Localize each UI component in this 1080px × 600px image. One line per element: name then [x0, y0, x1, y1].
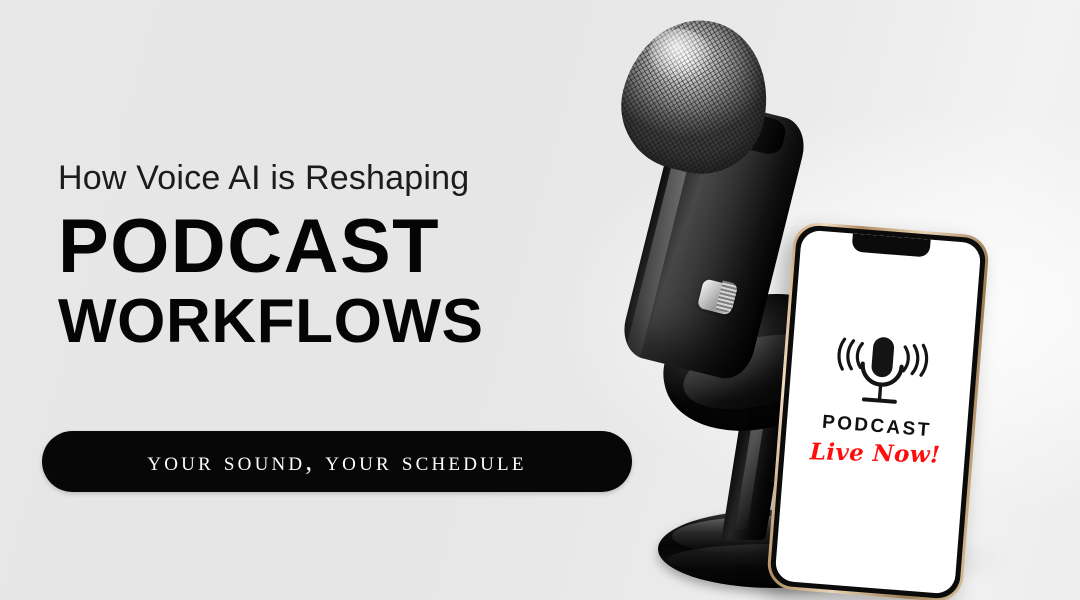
logo-brand-text: PODCAST	[821, 413, 932, 441]
phone-bezel: PODCAST Live Now!	[769, 224, 987, 600]
headline-line-1: PODCAST	[58, 211, 678, 284]
tagline-badge: Your Sound, Your Schedule	[42, 431, 632, 492]
phone-screen: PODCAST Live Now!	[774, 229, 981, 594]
podcast-app-logo: PODCAST Live Now!	[784, 325, 974, 472]
headline-line-2: WORKFLOWS	[58, 292, 678, 353]
eyebrow-text: How Voice AI is Reshaping	[58, 160, 678, 197]
smartphone: PODCAST Live Now!	[766, 221, 990, 600]
promo-banner: How Voice AI is Reshaping PODCAST WORKFL…	[0, 0, 1080, 600]
phone-notch	[852, 233, 931, 257]
microphone-icon	[830, 328, 932, 411]
logo-live-status: Live Now!	[809, 440, 940, 466]
headline-block: How Voice AI is Reshaping PODCAST WORKFL…	[58, 160, 678, 353]
tagline-text: Your Sound, Your Schedule	[147, 446, 526, 477]
